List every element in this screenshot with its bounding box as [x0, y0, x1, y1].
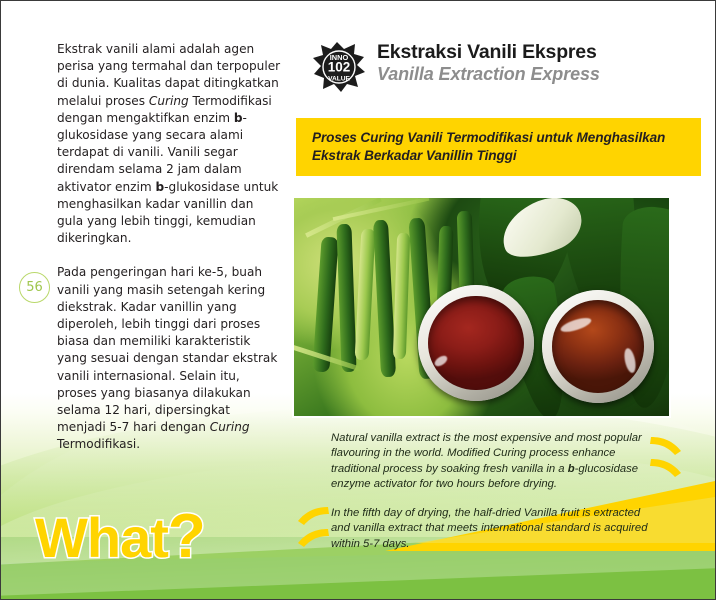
page-number: 56 [19, 272, 50, 303]
vanilla-photo-frame [292, 196, 671, 418]
indonesian-paragraph-2: Pada pengeringan hari ke-5, buah vanili … [57, 264, 281, 453]
photo-bowl-liquid [552, 300, 644, 393]
badge-line-2: 102 [328, 60, 351, 75]
badge-line-3: VALUE [328, 76, 350, 83]
english-paragraph-1: Natural vanilla extract is the most expe… [331, 431, 643, 493]
photo-extract-bowl-left [418, 285, 534, 401]
yellow-accent-marks-left [292, 503, 332, 549]
indonesian-text-column: Ekstrak vanili alami adalah agen perisa … [57, 41, 281, 454]
photo-bowl-liquid [428, 296, 523, 391]
what-logo-question-mark: ? [168, 502, 205, 571]
indonesian-paragraph-1: Ekstrak vanili alami adalah agen perisa … [57, 41, 281, 247]
header-titles: Ekstraksi Vanili Ekspres Vanilla Extract… [377, 37, 600, 85]
article-header: INNO 102 VALUE Ekstraksi Vanili Ekspres … [311, 37, 600, 95]
yellow-headline-banner: Proses Curing Vanili Termodifikasi untuk… [296, 118, 701, 176]
what-logo-word: What [35, 506, 168, 569]
title-indonesian: Ekstraksi Vanili Ekspres [377, 41, 600, 63]
inno-102-value-badge-icon: INNO 102 VALUE [311, 39, 367, 95]
english-paragraph-2: In the fifth day of drying, the half-dri… [331, 506, 653, 552]
title-english: Vanilla Extraction Express [377, 63, 600, 85]
banner-line-1: Proses Curing Vanili Termodifikasi untuk… [312, 129, 685, 147]
what-logo: What? [35, 506, 205, 568]
brochure-page: 56 Ekstrak vanili alami adalah agen peri… [0, 0, 716, 600]
vanilla-photo [294, 198, 669, 416]
banner-line-2: Ekstrak Berkadar Vanillin Tinggi [312, 147, 685, 165]
yellow-accent-marks-right [647, 433, 687, 479]
photo-extract-bowl-right [542, 290, 655, 403]
